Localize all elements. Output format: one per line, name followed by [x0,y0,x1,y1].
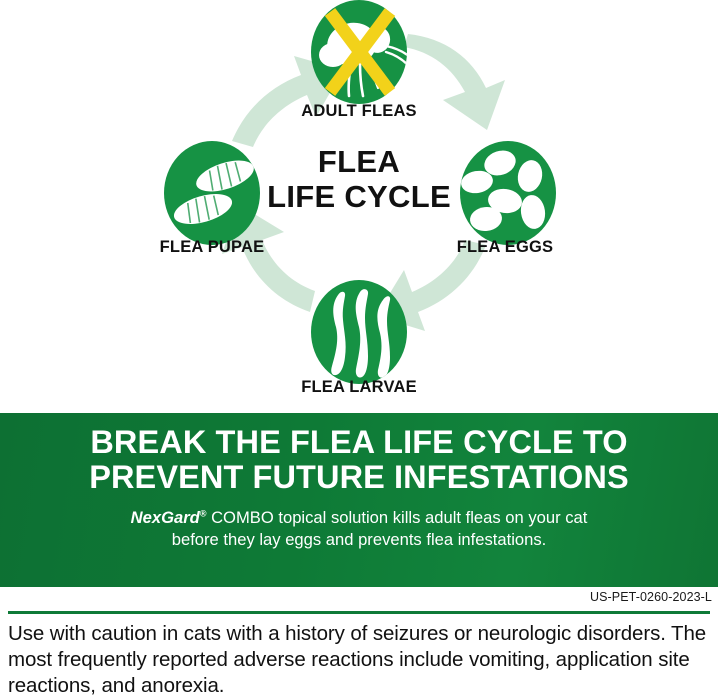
document-code: US-PET-0260-2023-L [590,590,712,604]
banner-subtext-line-1: NexGard® COMBO topical solution kills ad… [0,507,718,529]
banner-subtext-line-1-rest: COMBO topical solution kills adult fleas… [206,508,587,527]
banner-headline-line-2: PREVENT FUTURE INFESTATIONS [0,460,718,495]
center-title-line-1: FLEA [267,144,451,179]
brand-word: NexGard [131,508,200,527]
flea-life-cycle-infographic: FLEA LIFE CYCLE ADULT FLEAS FLEA EGGS FL… [0,0,718,700]
node-label-flea-larvae: FLEA LARVAE [301,378,417,397]
node-label-flea-eggs: FLEA EGGS [457,238,554,257]
banner-subtext-line-2: before they lay eggs and prevents flea i… [0,529,718,551]
node-flea-eggs-icon [459,141,556,245]
node-flea-pupae-icon [164,141,260,245]
promo-banner: BREAK THE FLEA LIFE CYCLE TO PREVENT FUT… [0,413,718,587]
node-flea-larvae-icon [311,280,407,384]
node-label-flea-pupae: FLEA PUPAE [160,238,265,257]
banner-headline: BREAK THE FLEA LIFE CYCLE TO PREVENT FUT… [0,425,718,495]
diagram-center-title: FLEA LIFE CYCLE [267,144,451,214]
caution-text: Use with caution in cats with a history … [8,621,708,700]
banner-subtext: NexGard® COMBO topical solution kills ad… [0,507,718,551]
node-label-adult-fleas: ADULT FLEAS [301,102,417,121]
banner-headline-line-1: BREAK THE FLEA LIFE CYCLE TO [0,425,718,460]
divider-rule [8,611,710,614]
flea-life-cycle-diagram: FLEA LIFE CYCLE ADULT FLEAS FLEA EGGS FL… [0,0,718,413]
brand-name: NexGard® [131,508,207,527]
cycle-arrow-adult-to-eggs [404,34,505,130]
center-title-line-2: LIFE CYCLE [267,179,451,214]
node-adult-fleas-icon [311,0,410,104]
